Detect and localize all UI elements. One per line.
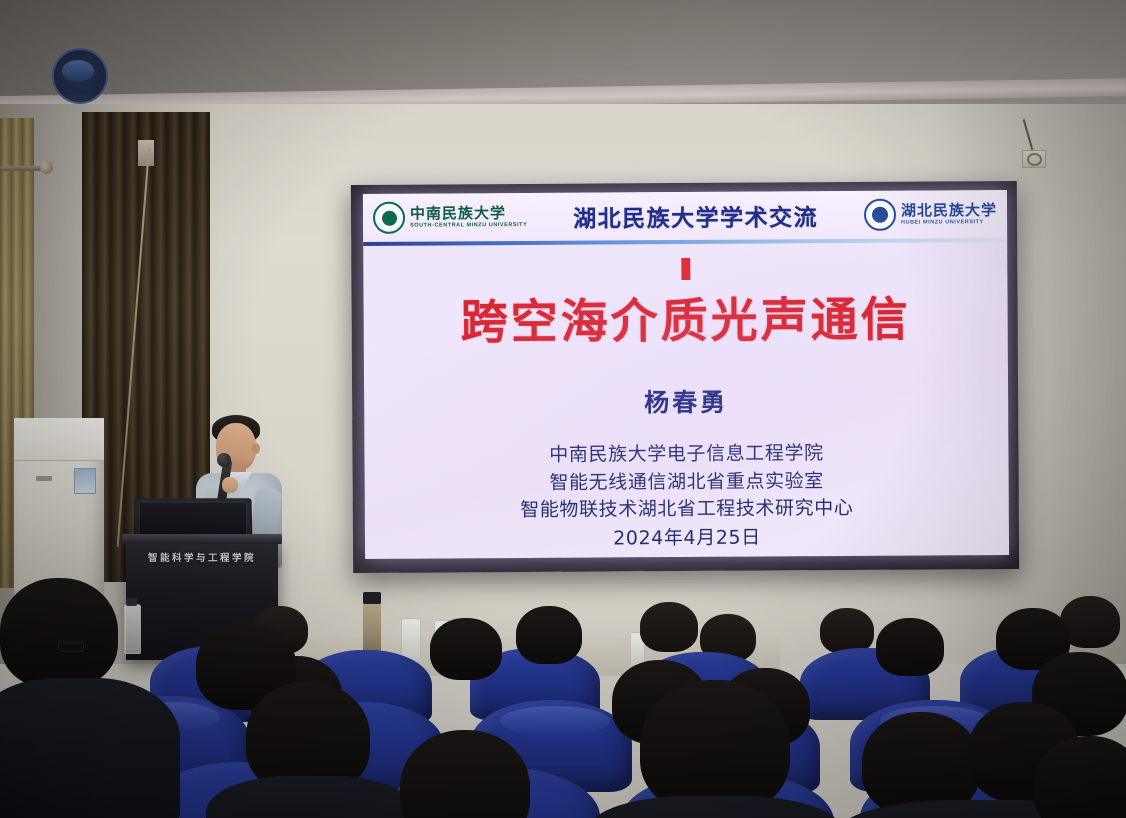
slide-affiliations: 中南民族大学电子信息工程学院 智能无线通信湖北省重点实验室 智能物联技术湖北省工… [364,439,1009,554]
left-logo-name-en: SOUTH-CENTRAL MINZU UNIVERSITY [410,223,527,229]
hubei-minzu-seal-icon [864,199,896,231]
left-logo-name-cn: 中南民族大学 [410,206,527,222]
curtain-rod [0,166,44,171]
audience-shoulders [0,678,180,818]
audience-area [0,560,1126,818]
laptop-screen [140,503,246,538]
presenter-ear [252,443,260,454]
slide-header-title: 湖北民族大学学术交流 [527,198,864,234]
audience-head [516,606,582,664]
podium-top-surface [122,534,282,544]
affiliation-line: 智能无线通信湖北省重点实验室 [365,467,1009,498]
curtain-rod-knob [40,161,53,174]
slide-screen: 中南民族大学 SOUTH-CENTRAL MINZU UNIVERSITY 湖北… [363,190,1009,559]
audience-head-front-left [0,578,118,688]
wall-socket-hole [1027,153,1042,166]
eyeglasses-icon [58,642,84,652]
audience-head [876,618,944,676]
slide-body: 跨空海介质光声通信 杨春勇 中南民族大学电子信息工程学院 智能无线通信湖北省重点… [363,238,1009,554]
audience-head [640,602,698,652]
audience-head [430,618,502,680]
lecture-hall-photo: 中南民族大学 SOUTH-CENTRAL MINZU UNIVERSITY 湖北… [0,0,1126,818]
right-logo-name-en: HUBEI MINZU UNIVERSITY [901,220,997,226]
text-cursor-icon [681,258,690,280]
south-central-minzu-seal-icon [373,202,405,234]
slide-header-band: 中南民族大学 SOUTH-CENTRAL MINZU UNIVERSITY 湖北… [363,190,1007,242]
microphone-head-icon [217,453,231,467]
audience-head-front [640,680,790,814]
slide-date: 2024年4月25日 [365,523,1009,554]
right-logo-name-cn: 湖北民族大学 [901,203,997,219]
slide-speaker-name: 杨春勇 [364,381,1008,421]
affiliation-line: 中南民族大学电子信息工程学院 [364,439,1008,470]
seat-highlight [500,706,610,736]
air-conditioner-brand [36,476,52,481]
presentation-display: 中南民族大学 SOUTH-CENTRAL MINZU UNIVERSITY 湖北… [351,181,1019,573]
right-university-logo: 湖北民族大学 HUBEI MINZU UNIVERSITY [864,198,997,231]
slide-main-title: 跨空海介质光声通信 [363,280,1007,353]
presenter-hand [222,477,238,493]
left-university-logo: 中南民族大学 SOUTH-CENTRAL MINZU UNIVERSITY [373,201,527,234]
affiliation-line: 智能物联技术湖北省工程技术研究中心 [365,494,1009,525]
air-conditioner-vent [14,418,104,461]
podium-emblem-inner [62,60,94,82]
air-conditioner-badge [74,468,96,494]
